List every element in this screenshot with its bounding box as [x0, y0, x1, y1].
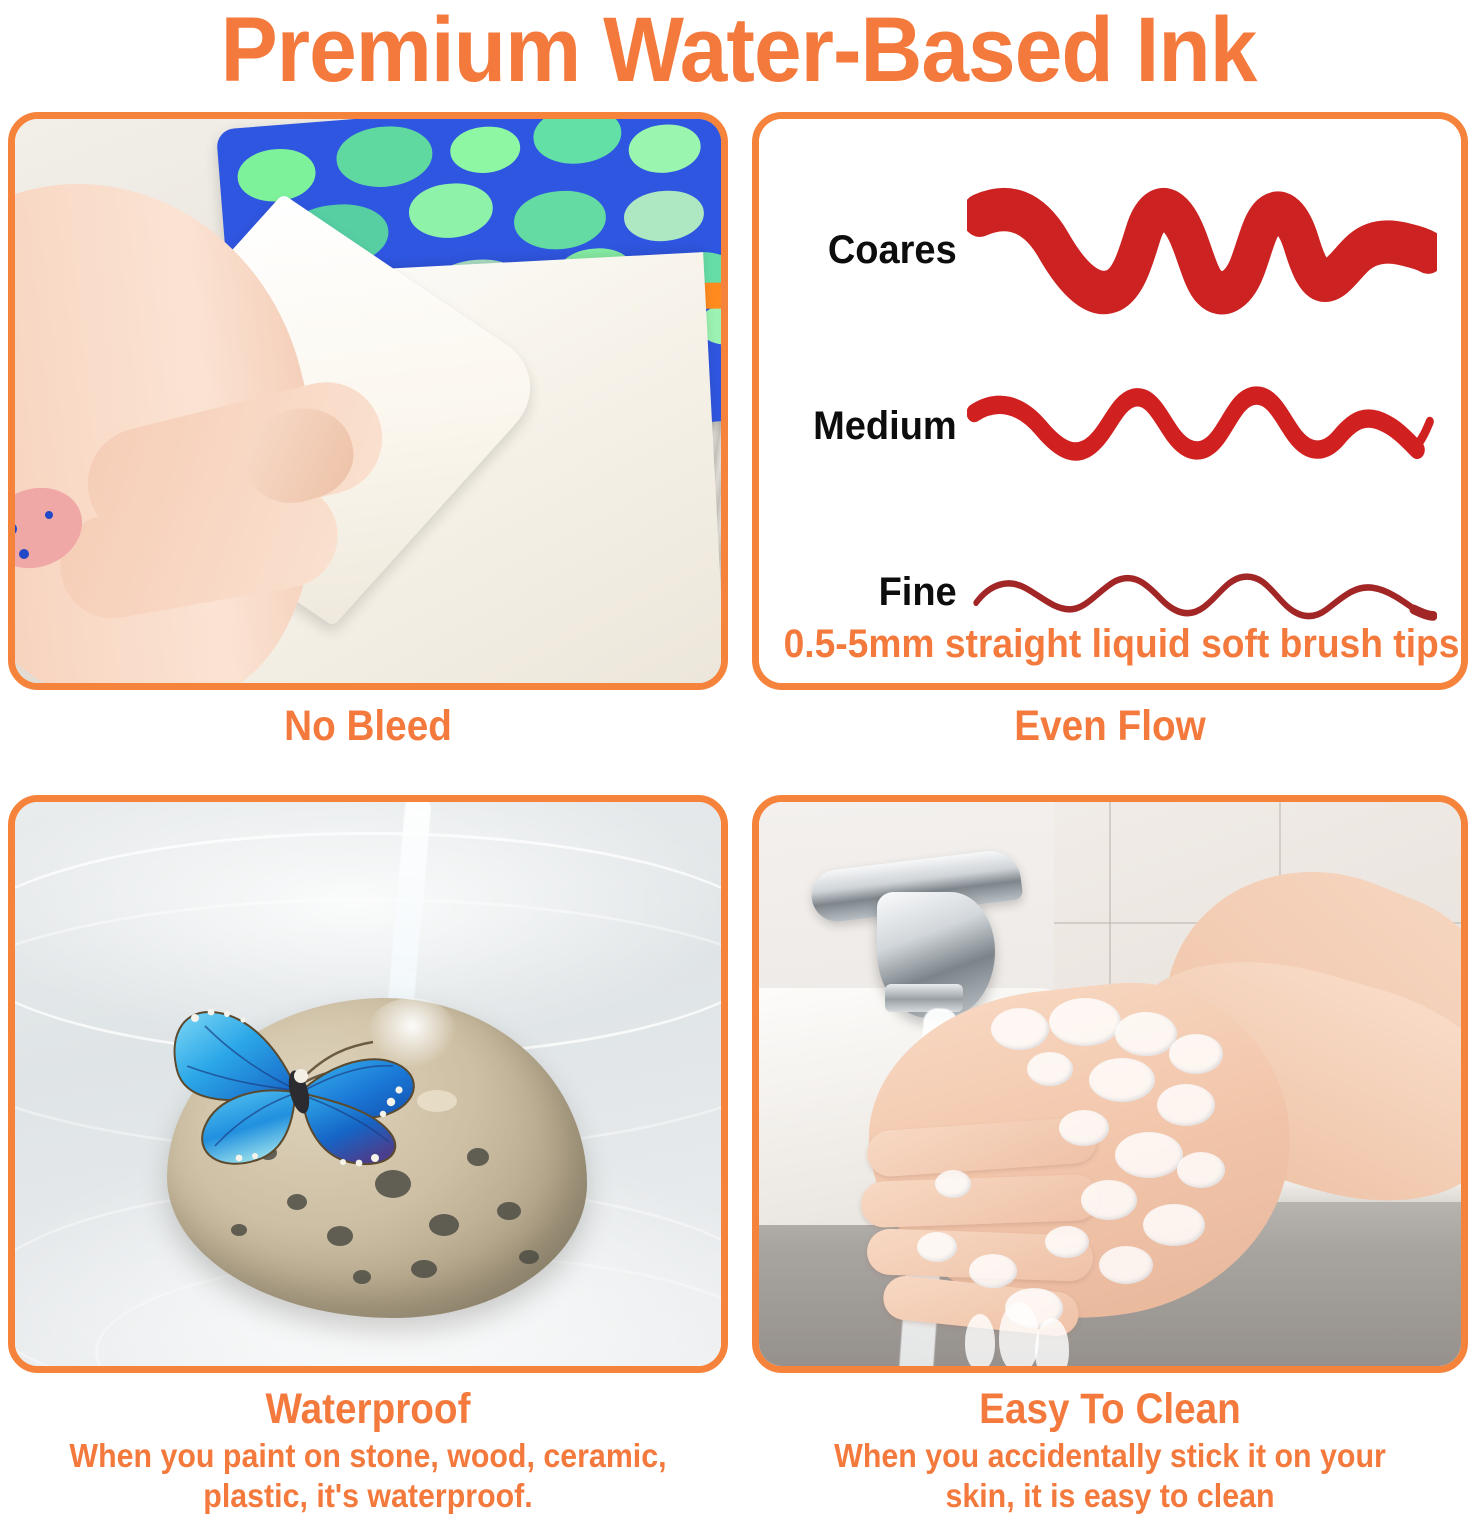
photo-no-bleed: [15, 119, 721, 683]
page-title: Premium Water-Based Ink: [52, 0, 1426, 104]
feature-row-bottom: Waterproof When you paint on stone, wood…: [0, 795, 1477, 1523]
feature-row-top: No Bleed Coares: [0, 112, 1477, 795]
stroke-row-medium: Medium: [783, 361, 1437, 491]
feature-grid: No Bleed Coares: [0, 112, 1477, 1523]
caption-title-easy-to-clean: Easy To Clean: [788, 1383, 1432, 1435]
stroke-label-medium: Medium: [788, 404, 963, 449]
caption-even-flow: Even Flow: [752, 690, 1468, 795]
caption-title-even-flow: Even Flow: [788, 700, 1432, 752]
caption-no-bleed: No Bleed: [8, 690, 728, 795]
stroke-label-coarse: Coares: [788, 228, 963, 273]
caption-sub-easy-to-clean-line2: skin, it is easy to clean: [781, 1475, 1440, 1515]
brush-stroke-diagram: Coares Medium: [759, 119, 1461, 683]
caption-title-no-bleed: No Bleed: [44, 700, 692, 752]
caption-easy-to-clean: Easy To Clean When you accidentally stic…: [752, 1373, 1468, 1523]
panel-easy-to-clean: [752, 795, 1468, 1373]
panel-waterproof: [8, 795, 728, 1373]
feature-cell-even-flow: Coares Medium: [738, 112, 1476, 795]
stroke-label-fine: Fine: [788, 570, 963, 615]
faucet-aerator: [885, 984, 963, 1012]
stroke-art-coarse: [967, 185, 1437, 315]
caption-sub-waterproof-line1: When you paint on stone, wood, ceramic,: [37, 1435, 699, 1475]
stroke-rows: Coares Medium: [759, 119, 1461, 683]
feature-cell-waterproof: Waterproof When you paint on stone, wood…: [0, 795, 738, 1523]
photo-easy-to-clean: [759, 802, 1461, 1366]
feature-cell-easy-to-clean: Easy To Clean When you accidentally stic…: [738, 795, 1476, 1523]
caption-sub-waterproof-line2: plastic, it's waterproof.: [37, 1475, 699, 1515]
butterfly-painting: [135, 982, 465, 1212]
caption-waterproof: Waterproof When you paint on stone, wood…: [8, 1373, 728, 1523]
panel-no-bleed: [8, 112, 728, 690]
caption-title-waterproof: Waterproof: [44, 1383, 692, 1435]
brush-tip-caption: 0.5-5mm straight liquid soft brush tips: [784, 621, 1437, 667]
stroke-row-coarse: Coares: [783, 185, 1437, 315]
feature-cell-no-bleed: No Bleed: [0, 112, 738, 795]
caption-sub-easy-to-clean-line1: When you accidentally stick it on your: [781, 1435, 1440, 1475]
photo-waterproof: [15, 802, 721, 1366]
panel-even-flow: Coares Medium: [752, 112, 1468, 690]
stroke-art-medium: [967, 361, 1437, 491]
